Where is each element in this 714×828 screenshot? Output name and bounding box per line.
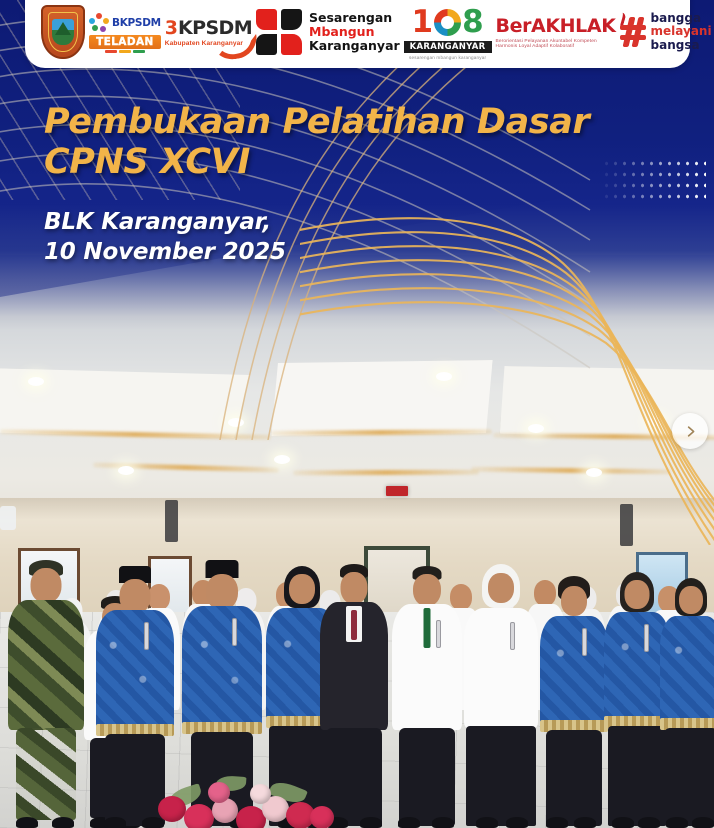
hashtag-icon: [620, 17, 646, 47]
sesarengan-line2: Mbangun: [309, 25, 400, 39]
banner-subtitle-line1: BLK Karanganyar,: [44, 207, 564, 237]
bangga-line3: bangsa: [651, 39, 712, 53]
banner-slide: .pback { bottom:118px; }: [0, 0, 714, 828]
person-batik-woman: [540, 576, 608, 828]
kpsdm-mark: 3: [165, 17, 178, 39]
ceiling-light: [274, 455, 290, 464]
banner-subtitle: BLK Karanganyar, 10 November 2025: [44, 207, 564, 268]
chevron-right-icon: [683, 424, 698, 439]
carousel-next-button[interactable]: [672, 413, 708, 449]
logo-108-karanganyar: 1 8 KARANGANYAR sesarengan mbangun karan…: [404, 4, 492, 60]
num-1: 1: [412, 7, 434, 38]
banner-subtitle-line2: 10 November 2025: [44, 237, 564, 267]
berakhlak-word: BerAKHLAK: [496, 15, 616, 37]
sesarengan-line3: Karanganyar: [309, 39, 400, 53]
banner-title: Pembukaan Pelatihan Dasar CPNS XCVI: [44, 103, 644, 183]
bangga-line2: melayani: [651, 25, 712, 39]
num-0-icon: [434, 9, 461, 36]
logo-kabupaten-karanganyar-crest: [41, 4, 85, 60]
logo-bar: BKPSDM TELADAN 3 KPSDM Kabupaten Karanga…: [25, 0, 690, 68]
teladan-bars: [105, 50, 145, 53]
person-military-officer: [8, 560, 84, 828]
banner-title-line2: CPNS XCVI: [44, 143, 644, 183]
num-8: 8: [462, 7, 484, 38]
logo-berakhlak: BerAKHLAK Berorientasi Pelayanan Akuntab…: [496, 4, 616, 60]
k108-band: KARANGANYAR: [404, 41, 492, 53]
logo-bangga-melayani-bangsa: bangga melayani bangsa: [620, 4, 712, 60]
berakhlak-sub2: Harmonis Loyal Adaptif Kolaboratif: [496, 44, 575, 49]
air-conditioner: [0, 506, 16, 530]
bangga-line1: bangga: [651, 12, 712, 26]
logo-bkpsdm-teladan: BKPSDM TELADAN: [89, 4, 161, 60]
people-icon: [89, 12, 109, 34]
wall-speaker: [165, 500, 178, 542]
logo-sesarengan-mbangun: Sesarengan Mbangun Karanganyar: [256, 4, 400, 60]
teladan-line2: TELADAN: [89, 35, 161, 49]
k108-tagline: sesarengan mbangun karanganyar: [409, 55, 486, 60]
person-white-hijab-uniform: [464, 564, 538, 828]
banner-title-line1: Pembukaan Pelatihan Dasar: [44, 103, 644, 143]
person-batik-woman: [660, 578, 714, 828]
ceiling-light: [118, 466, 134, 475]
teladan-line1: BKPSDM: [112, 17, 161, 29]
crest-icon: [41, 5, 85, 59]
puzzle-icon: [256, 9, 302, 55]
person-white-uniform: [392, 566, 462, 828]
flower-bouquet: [150, 762, 350, 828]
sesarengan-line1: Sesarengan: [309, 11, 400, 25]
logo-bkpsdm-karanganyar: 3 KPSDM Kabupaten Karanganyar: [165, 4, 252, 60]
